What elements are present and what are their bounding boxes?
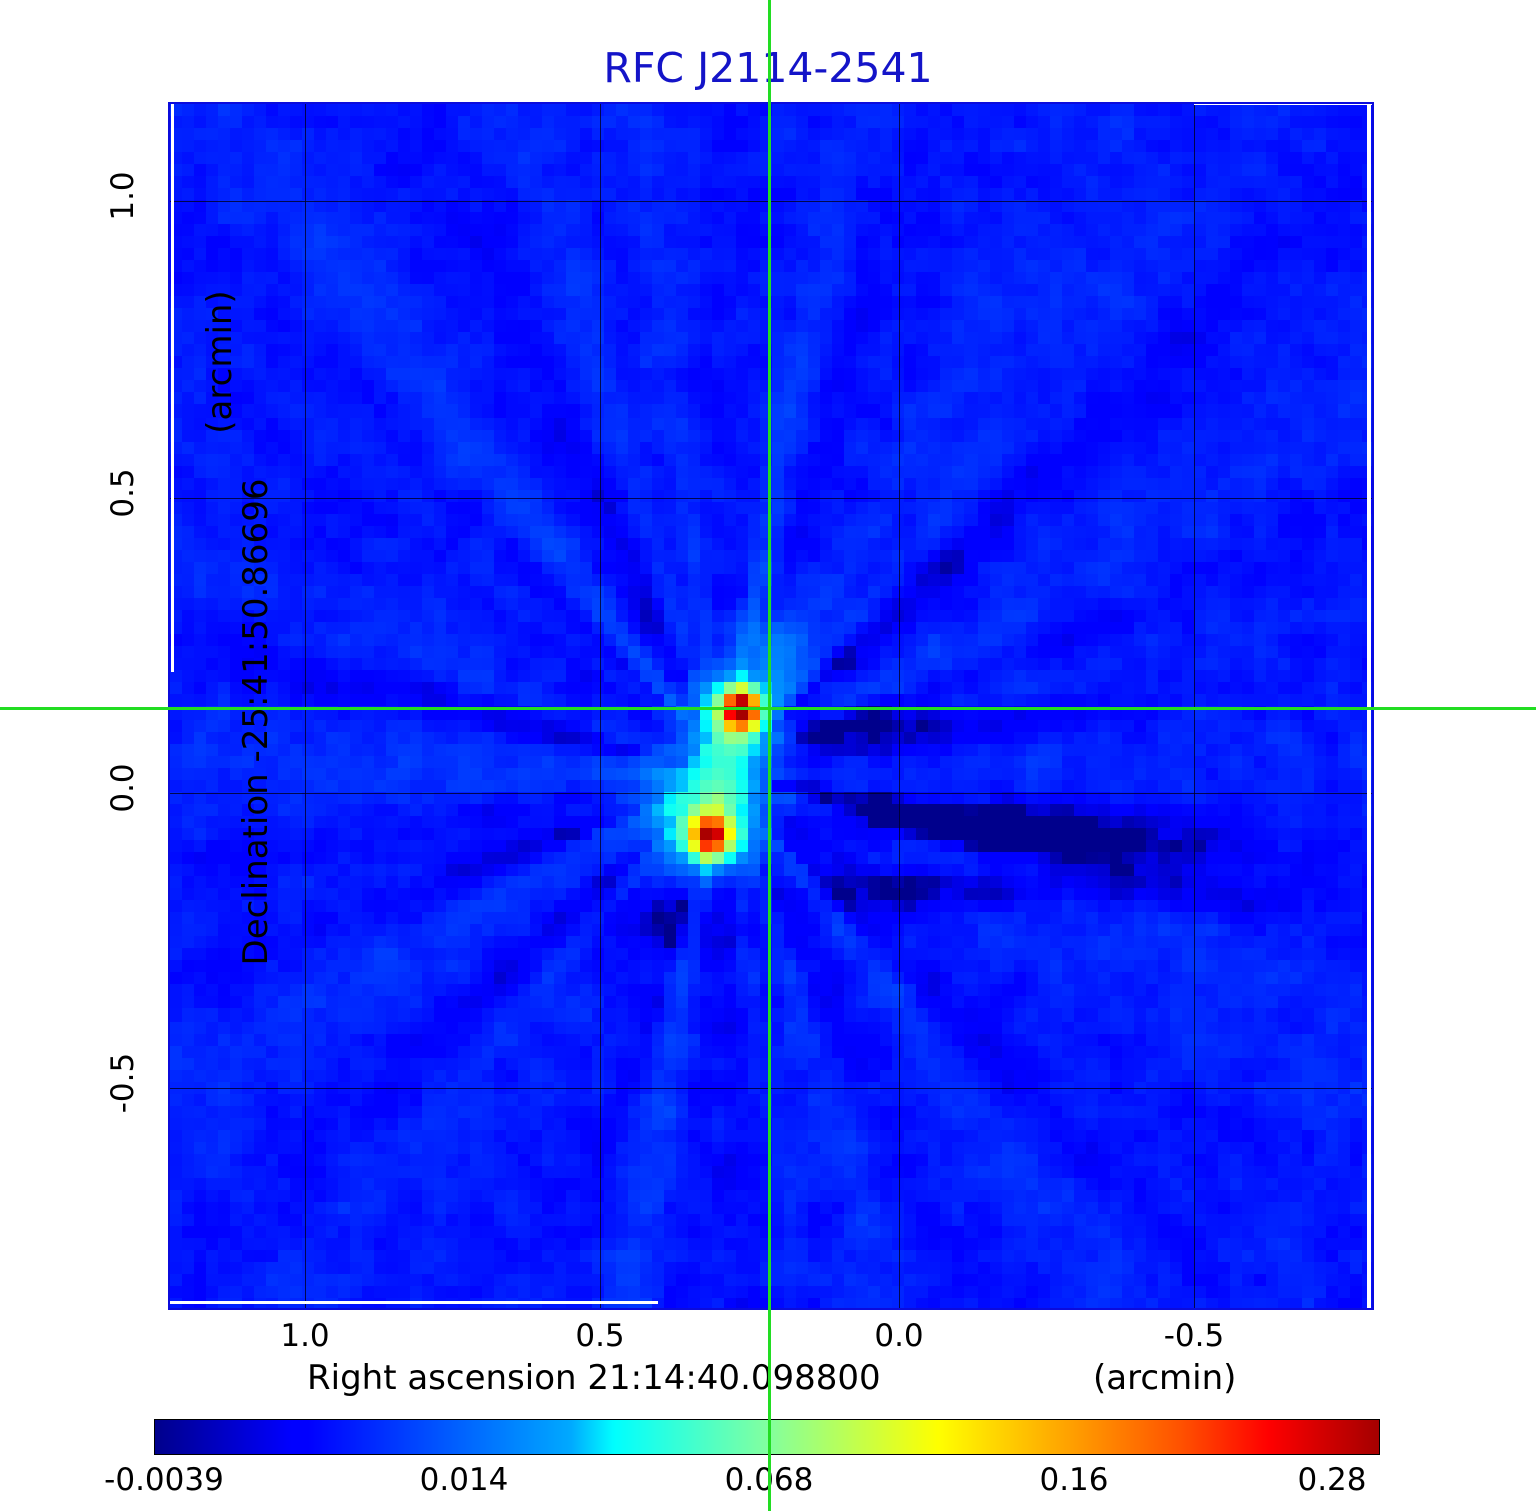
x-tick-label-4: -0.5 (1134, 1318, 1254, 1354)
x-tick-label-1: 1.0 (245, 1318, 365, 1354)
y-tick-label-3: 0.0 (105, 728, 141, 848)
y-tick-label-4: -0.5 (105, 1023, 141, 1143)
x-tick-label-2: 0.5 (540, 1318, 660, 1354)
frame-artifact-bottom (168, 1301, 658, 1304)
y-tick-label-1: 1.0 (105, 136, 141, 256)
figure-root: RFC J2114-2541 Declination -25:41:50.866… (0, 0, 1536, 1511)
gridline-x--0.5 (1194, 102, 1195, 1310)
frame-artifact-top-right (1194, 102, 1374, 105)
y-axis-label: Declination -25:41:50.86696 (236, 422, 276, 1022)
x-axis-units-label: (arcmin) (1093, 1358, 1236, 1398)
colorbar-tick-label-5: 0.28 (1232, 1462, 1432, 1498)
gridline-x-0.5 (600, 102, 601, 1310)
gridline-x-0.0 (899, 102, 900, 1310)
colorbar-gradient[interactable] (154, 1419, 1380, 1455)
gridline-y--0.5 (168, 1088, 1374, 1089)
frame-artifact-left (171, 102, 174, 672)
x-tick-label-3: 0.0 (839, 1318, 959, 1354)
crosshair-vertical (768, 0, 771, 1511)
colorbar-tick-label-1: -0.0039 (64, 1462, 264, 1498)
gridline-y-1.0 (168, 201, 1374, 202)
y-axis-units-label: (arcmin) (200, 162, 240, 562)
colorbar-tick-label-2: 0.014 (364, 1462, 564, 1498)
frame-artifact-right (1367, 102, 1371, 1310)
colorbar-tick-label-4: 0.16 (974, 1462, 1174, 1498)
x-axis-label: Right ascension 21:14:40.098800 (307, 1358, 881, 1398)
crosshair-horizontal (0, 707, 1536, 710)
gridline-y-0.0 (168, 793, 1374, 794)
gridline-x-1.0 (305, 102, 306, 1310)
sky-image-panel[interactable]: Declination -25:41:50.86696 (arcmin) (168, 102, 1374, 1310)
y-tick-label-2: 0.5 (105, 433, 141, 553)
colorbar[interactable] (154, 1419, 1380, 1455)
gridline-y-0.5 (168, 498, 1374, 499)
